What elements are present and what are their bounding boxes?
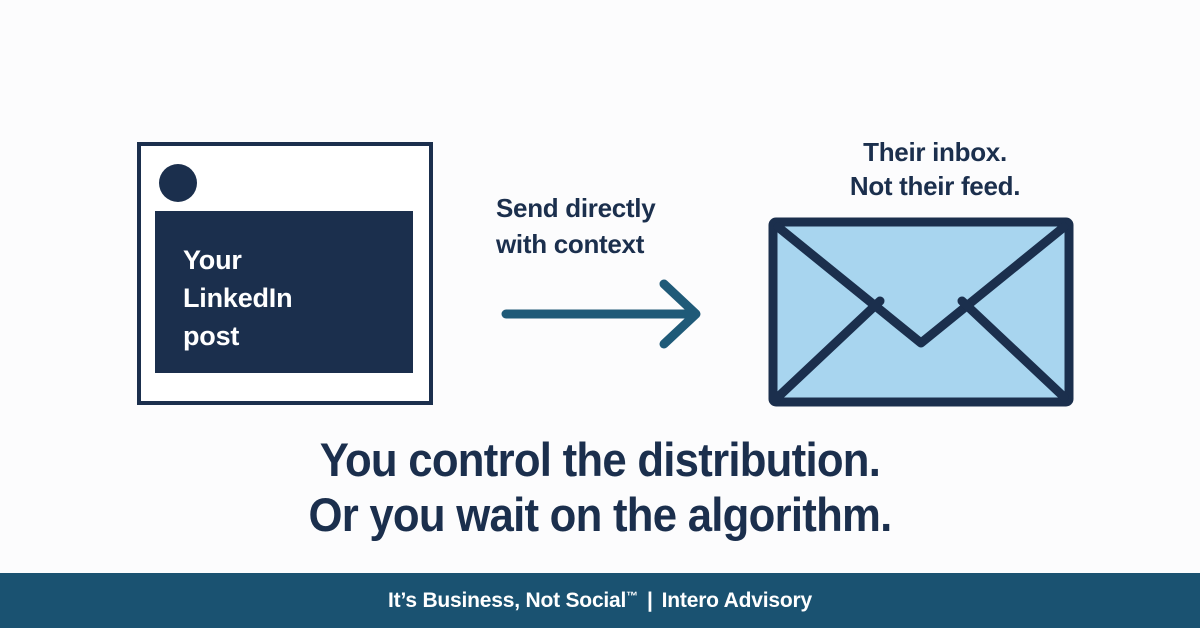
linkedin-post-card: Your LinkedIn post xyxy=(137,142,433,405)
right-arrow-icon xyxy=(498,278,713,350)
footer-separator: | xyxy=(638,589,662,613)
avatar-circle-icon xyxy=(159,164,197,202)
send-directly-caption: Send directly with context xyxy=(496,190,726,262)
post-body-block: Your LinkedIn post xyxy=(155,211,413,373)
footer-tagline: It’s Business, Not Social xyxy=(388,589,626,613)
post-body-label: Your LinkedIn post xyxy=(183,241,292,355)
slide-canvas: Your LinkedIn post Send directly with co… xyxy=(0,0,1200,628)
their-inbox-caption: Their inbox. Not their feed. xyxy=(810,135,1060,203)
page-title: You control the distribution. Or you wai… xyxy=(42,432,1158,542)
footer-bar: It’s Business, Not Social™|Intero Adviso… xyxy=(0,573,1200,628)
trademark-symbol: ™ xyxy=(626,589,638,603)
footer-brand-line: It’s Business, Not Social™|Intero Adviso… xyxy=(388,589,812,613)
envelope-icon xyxy=(768,217,1074,407)
footer-company: Intero Advisory xyxy=(662,589,812,613)
